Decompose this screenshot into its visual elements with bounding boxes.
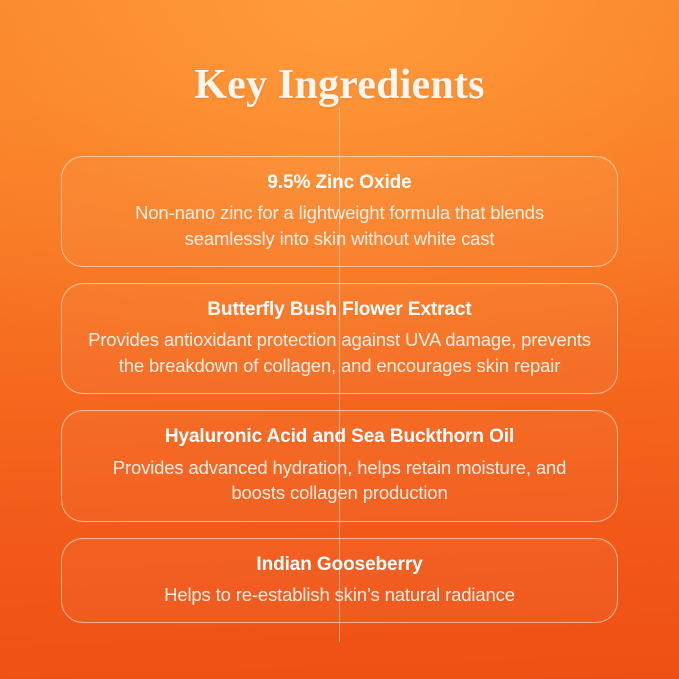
- ingredient-name: Butterfly Bush Flower Extract: [88, 297, 591, 322]
- ingredient-description: Provides advanced hydration, helps retai…: [88, 455, 591, 506]
- ingredient-description: Helps to re-establish skin’s natural rad…: [88, 582, 591, 608]
- ingredient-description: Provides antioxidant protection against …: [88, 327, 591, 378]
- ingredient-name: Indian Gooseberry: [88, 552, 591, 577]
- key-ingredients-poster: Key Ingredients 9.5% Zinc Oxide Non-nano…: [0, 0, 679, 679]
- ingredient-description: Non-nano zinc for a lightweight formula …: [88, 200, 591, 251]
- ingredient-card: Butterfly Bush Flower Extract Provides a…: [61, 283, 618, 394]
- ingredient-card-list: 9.5% Zinc Oxide Non-nano zinc for a ligh…: [0, 134, 679, 623]
- ingredient-card: Indian Gooseberry Helps to re-establish …: [61, 538, 618, 624]
- ingredient-name: 9.5% Zinc Oxide: [88, 170, 591, 195]
- ingredient-card: Hyaluronic Acid and Sea Buckthorn Oil Pr…: [61, 410, 618, 521]
- page-title: Key Ingredients: [0, 28, 679, 106]
- ingredient-name: Hyaluronic Acid and Sea Buckthorn Oil: [88, 424, 591, 449]
- ingredient-card: 9.5% Zinc Oxide Non-nano zinc for a ligh…: [61, 156, 618, 267]
